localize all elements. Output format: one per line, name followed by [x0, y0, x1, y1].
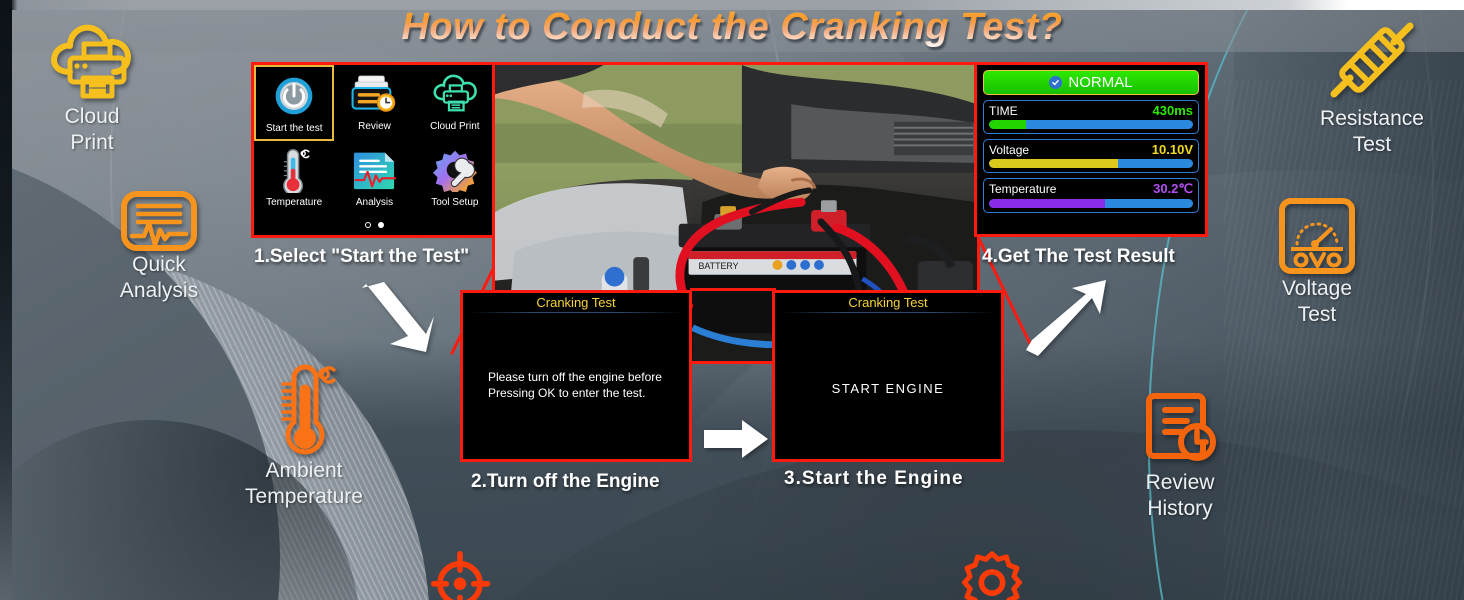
menu-item-label: Temperature	[266, 197, 322, 208]
review-printer-clock-icon	[350, 70, 398, 118]
analysis-waveform-icon	[350, 146, 398, 194]
menu-page-dots[interactable]	[254, 217, 495, 233]
gear-icon	[948, 550, 1036, 600]
caption-step-3: 3.Start the Engine	[784, 468, 964, 490]
menu-item-label: Cloud Print	[430, 121, 479, 132]
feature-review-history[interactable]: Review History	[1100, 388, 1260, 522]
dialog-body-line-1: Please turn off the engine before	[488, 369, 689, 385]
feature-label: Analysis	[92, 278, 226, 304]
thermometer-icon	[196, 362, 412, 458]
caption-step-2: 2.Turn off the Engine	[471, 471, 660, 493]
menu-item-label: Analysis	[356, 197, 393, 208]
result-row-voltage: Voltage 10.10V	[983, 139, 1199, 173]
result-row-temperature: Temperature 30.2℃	[983, 178, 1199, 213]
status-badge-label: NORMAL	[1068, 74, 1132, 91]
arrow-step2-to-step3	[704, 418, 770, 465]
page-dot-2[interactable]	[378, 222, 384, 228]
photo-connector-mid	[690, 288, 776, 291]
feature-settings[interactable]	[948, 550, 1036, 600]
feature-ambient-temperature[interactable]: Ambient Temperature	[196, 362, 412, 510]
arrow-step3-to-step4	[1026, 280, 1108, 361]
result-progress-bar	[989, 120, 1193, 129]
feature-label: Temperature	[196, 484, 412, 510]
menu-item-label: Review	[358, 121, 391, 132]
feature-label: Test	[1248, 302, 1386, 328]
check-circle-icon	[1049, 76, 1062, 89]
background-left-edge	[0, 0, 12, 600]
dialog-title: Cranking Test	[775, 293, 1001, 310]
test-result-panel: NORMAL TIME 430ms Voltage 10.10V Tempera…	[974, 62, 1208, 237]
page-dot-1[interactable]	[365, 222, 371, 228]
result-value: 430ms	[1153, 103, 1193, 118]
feature-label: Review	[1100, 470, 1260, 496]
menu-item-temperature[interactable]: Temperature	[254, 141, 334, 217]
feature-label: Test	[1296, 132, 1448, 158]
status-badge: NORMAL	[983, 70, 1199, 95]
feature-resistance-test[interactable]: Resistance Test	[1296, 14, 1448, 158]
feature-label: Print	[26, 130, 158, 156]
dialog-body: Please turn off the engine before Pressi…	[463, 313, 689, 401]
feature-target[interactable]	[412, 550, 508, 600]
menu-item-review[interactable]: Review	[334, 65, 414, 141]
feature-cloud-print[interactable]: Cloud Print	[26, 20, 158, 156]
dialog-turn-off-engine: Cranking Test Please turn off the engine…	[460, 290, 692, 462]
voltmeter-icon	[1248, 196, 1386, 276]
thermometer-celsius-icon	[277, 146, 311, 194]
gear-wrench-icon	[432, 146, 478, 194]
quick-analysis-icon	[92, 190, 226, 252]
resistor-icon	[1296, 14, 1448, 106]
page-title: How to Conduct the Cranking Test?	[0, 6, 1464, 49]
feature-voltage-test[interactable]: Voltage Test	[1248, 196, 1386, 328]
cloud-print-icon	[431, 70, 479, 118]
menu-item-analysis[interactable]: Analysis	[334, 141, 414, 217]
result-progress-bar	[989, 199, 1193, 208]
result-row-time: TIME 430ms	[983, 100, 1199, 134]
menu-item-start-the-test[interactable]: Start the test	[254, 65, 334, 141]
caption-step-1: 1.Select "Start the Test"	[254, 246, 469, 268]
device-menu-grid: Start the test Review	[254, 65, 495, 217]
dialog-body: START ENGINE	[775, 313, 1001, 397]
cloud-print-icon	[26, 20, 158, 104]
menu-item-label: Tool Setup	[431, 197, 478, 208]
menu-item-label: Start the test	[266, 123, 323, 134]
feature-label: History	[1100, 496, 1260, 522]
dialog-start-engine: Cranking Test START ENGINE	[772, 290, 1004, 462]
document-clock-icon	[1100, 388, 1260, 470]
device-menu-screen[interactable]: Start the test Review	[251, 62, 498, 238]
arrow-step1-to-step2	[358, 282, 438, 359]
menu-item-tool-setup[interactable]: Tool Setup	[415, 141, 495, 217]
power-button-icon	[273, 72, 315, 120]
feature-label: Resistance	[1296, 106, 1448, 132]
feature-label: Cloud	[26, 104, 158, 130]
feature-label: Quick	[92, 252, 226, 278]
result-progress-bar	[989, 159, 1193, 168]
dialog-body-line-2: Pressing OK to enter the test.	[488, 385, 689, 401]
crosshair-target-icon	[412, 550, 508, 600]
svg-text:BATTERY: BATTERY	[698, 261, 738, 271]
poster-canvas: How to Conduct the Cranking Test? Cloud …	[0, 0, 1464, 600]
result-label: TIME	[989, 104, 1018, 118]
feature-label: Ambient	[196, 458, 412, 484]
feature-quick-analysis[interactable]: Quick Analysis	[92, 190, 226, 304]
feature-label: Voltage	[1248, 276, 1386, 302]
caption-step-4: 4.Get The Test Result	[982, 246, 1175, 268]
menu-item-cloud-print[interactable]: Cloud Print	[415, 65, 495, 141]
result-label: Voltage	[989, 143, 1029, 157]
result-value: 30.2℃	[1153, 181, 1193, 197]
result-value: 10.10V	[1152, 142, 1193, 157]
result-label: Temperature	[989, 182, 1056, 196]
dialog-title: Cranking Test	[463, 293, 689, 310]
